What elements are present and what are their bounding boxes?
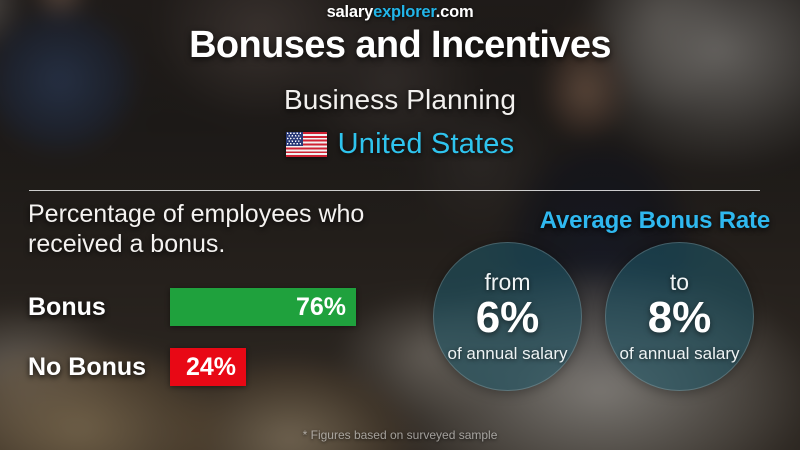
infographic-card: salaryexplorer.com Bonuses and Incentive… [0, 0, 800, 450]
bar-value-bonus: 76% [296, 293, 346, 322]
left-panel-caption: Percentage of employees who received a b… [28, 200, 428, 259]
country-name: United States [338, 128, 515, 161]
bar-label-no-bonus: No Bonus [28, 353, 170, 382]
logo-text-explorer: explorer [373, 3, 436, 21]
logo-text-domain: .com [436, 3, 474, 21]
bar-fill-bonus: 76% [170, 288, 356, 326]
card-content: salaryexplorer.com Bonuses and Incentive… [0, 0, 800, 450]
bar-value-no-bonus: 24% [186, 353, 236, 382]
circle-value-from: 6% [476, 296, 540, 341]
logo-text-salary: salary [327, 3, 374, 21]
bonus-rate-circle-from: from 6% of annual salary [433, 242, 582, 391]
site-logo[interactable]: salaryexplorer.com [0, 3, 800, 22]
header-divider [29, 190, 760, 191]
united-states-flag-icon [286, 132, 327, 157]
page-title: Bonuses and Incentives [0, 24, 800, 67]
circle-suffix-from: of annual salary [447, 345, 567, 362]
country-row: United States [0, 128, 800, 161]
bonus-rate-circle-to: to 8% of annual salary [605, 242, 754, 391]
bar-row-no-bonus: No Bonus 24% [28, 348, 246, 386]
circle-value-to: 8% [648, 296, 712, 341]
bar-fill-no-bonus: 24% [170, 348, 246, 386]
circle-suffix-to: of annual salary [619, 345, 739, 362]
page-subtitle: Business Planning [0, 84, 800, 116]
footnote: * Figures based on surveyed sample [0, 428, 800, 442]
circle-prefix-from: from [485, 271, 531, 294]
circle-prefix-to: to [670, 271, 689, 294]
bar-label-bonus: Bonus [28, 293, 170, 322]
flag-stars [286, 132, 304, 146]
right-panel-heading: Average Bonus Rate [540, 207, 770, 235]
bar-row-bonus: Bonus 76% [28, 288, 356, 326]
